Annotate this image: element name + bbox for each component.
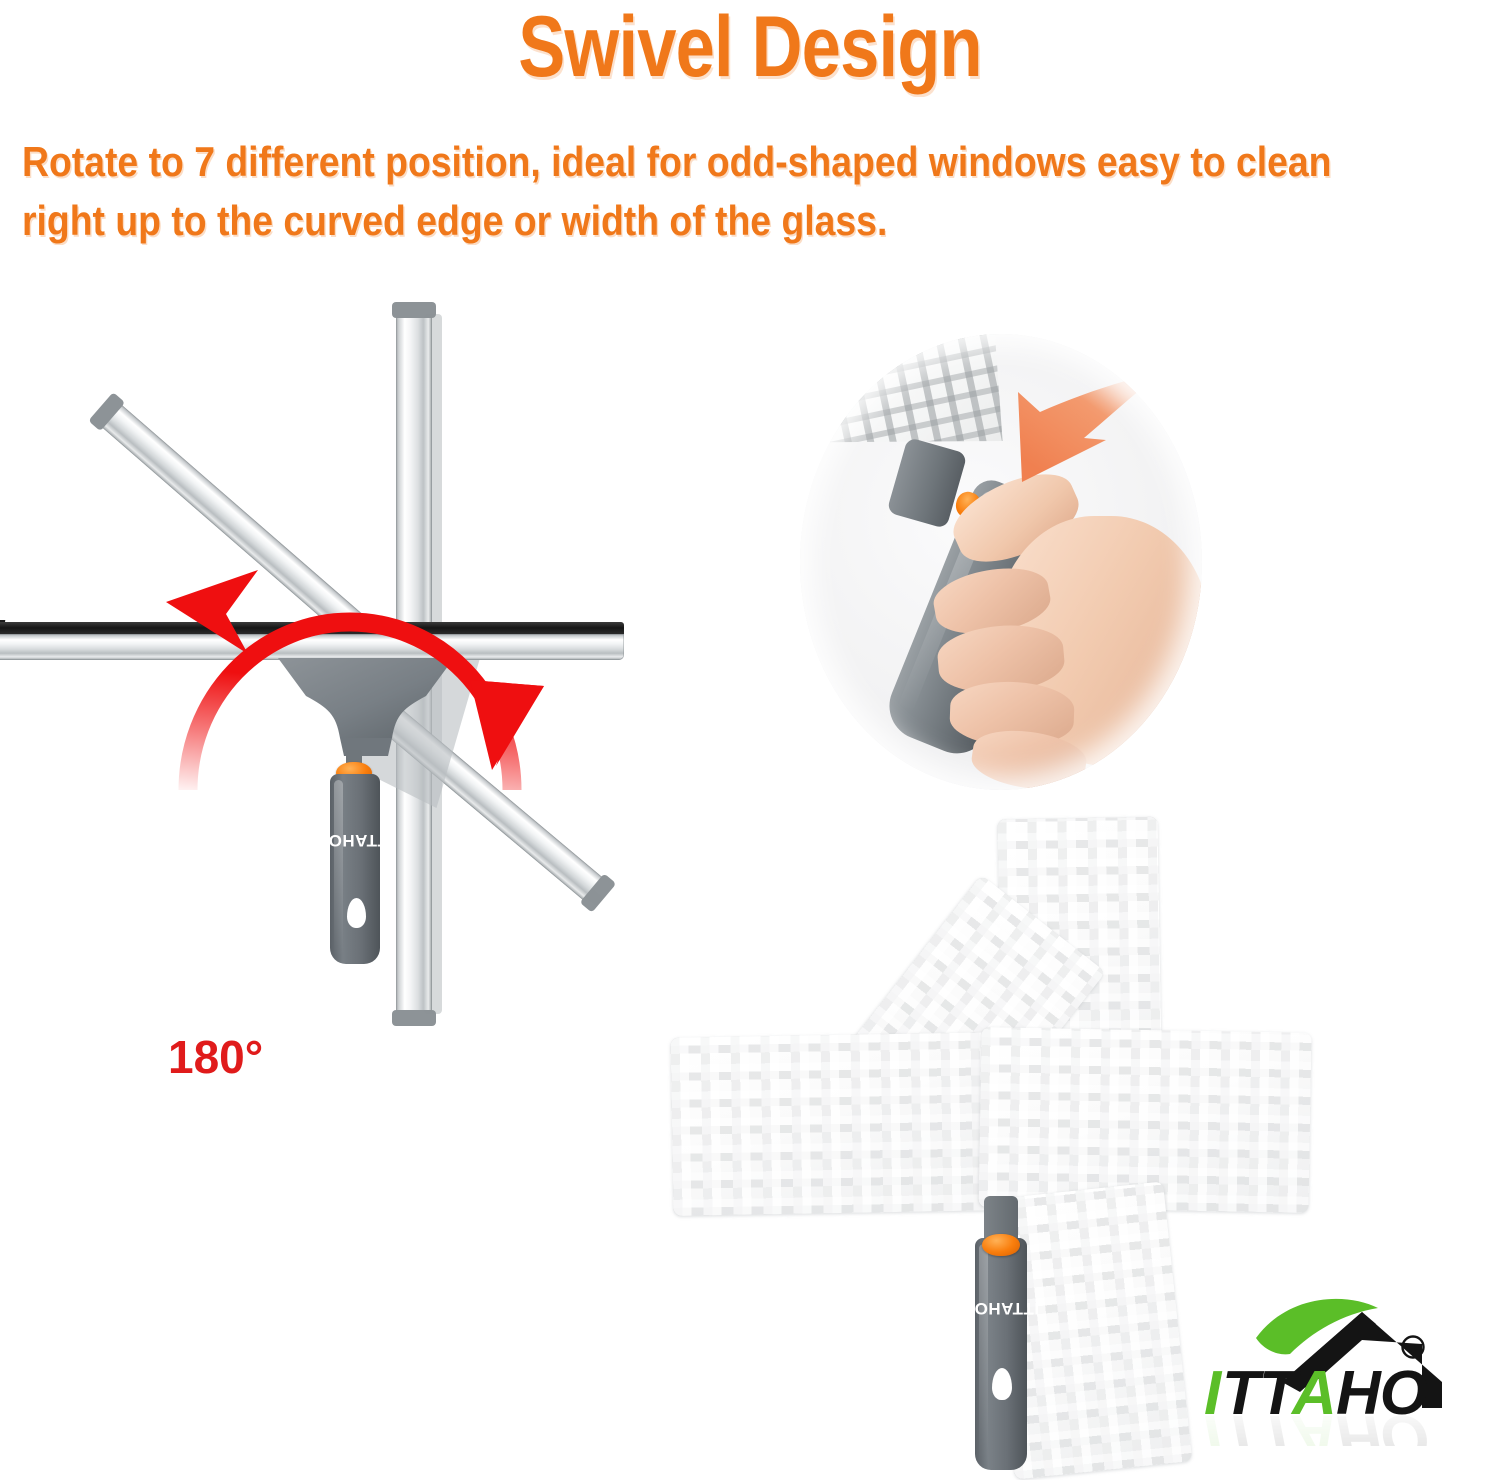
- photo-vignette: [800, 334, 1202, 790]
- handle-highlight: [979, 1244, 988, 1464]
- handle-brand-label: ITTAHO®: [967, 1298, 1039, 1318]
- squeegee-handle: ITTAHO®: [330, 774, 380, 964]
- svg-text:A: A: [1290, 1402, 1336, 1446]
- page-title: Swivel Design: [135, 0, 1365, 97]
- svg-text:HO: HO: [1336, 1402, 1428, 1446]
- hand-holding-squeegee-photo: [800, 334, 1202, 790]
- swivel-button-orange[interactable]: [982, 1234, 1020, 1256]
- swivel-rotation-diagram: ITTAHO®: [0, 300, 620, 1060]
- ittaho-logo: R I TT A HO I TT A HO: [1196, 1296, 1492, 1446]
- rotation-arc-arrow: [140, 418, 560, 798]
- svg-text:I: I: [1204, 1402, 1223, 1446]
- svg-text:R: R: [1409, 1340, 1418, 1355]
- angle-label-180: 180°: [168, 1030, 263, 1084]
- microfiber-pad-left: [670, 1032, 1003, 1216]
- subtitle-description: Rotate to 7 different position, ideal fo…: [22, 132, 1347, 250]
- end-cap-top: [392, 302, 436, 318]
- svg-text:TT: TT: [1222, 1402, 1302, 1446]
- end-cap-bottom: [392, 1010, 436, 1026]
- handle-hang-hole: [347, 898, 366, 928]
- handle-brand-label: ITTAHO®: [321, 830, 393, 850]
- infographic-canvas: Swivel Design Rotate to 7 different posi…: [0, 0, 1500, 1471]
- pads-squeegee-handle: ITTAHO®: [975, 1238, 1027, 1470]
- handle-hang-hole: [992, 1368, 1012, 1400]
- handle-highlight: [334, 780, 343, 956]
